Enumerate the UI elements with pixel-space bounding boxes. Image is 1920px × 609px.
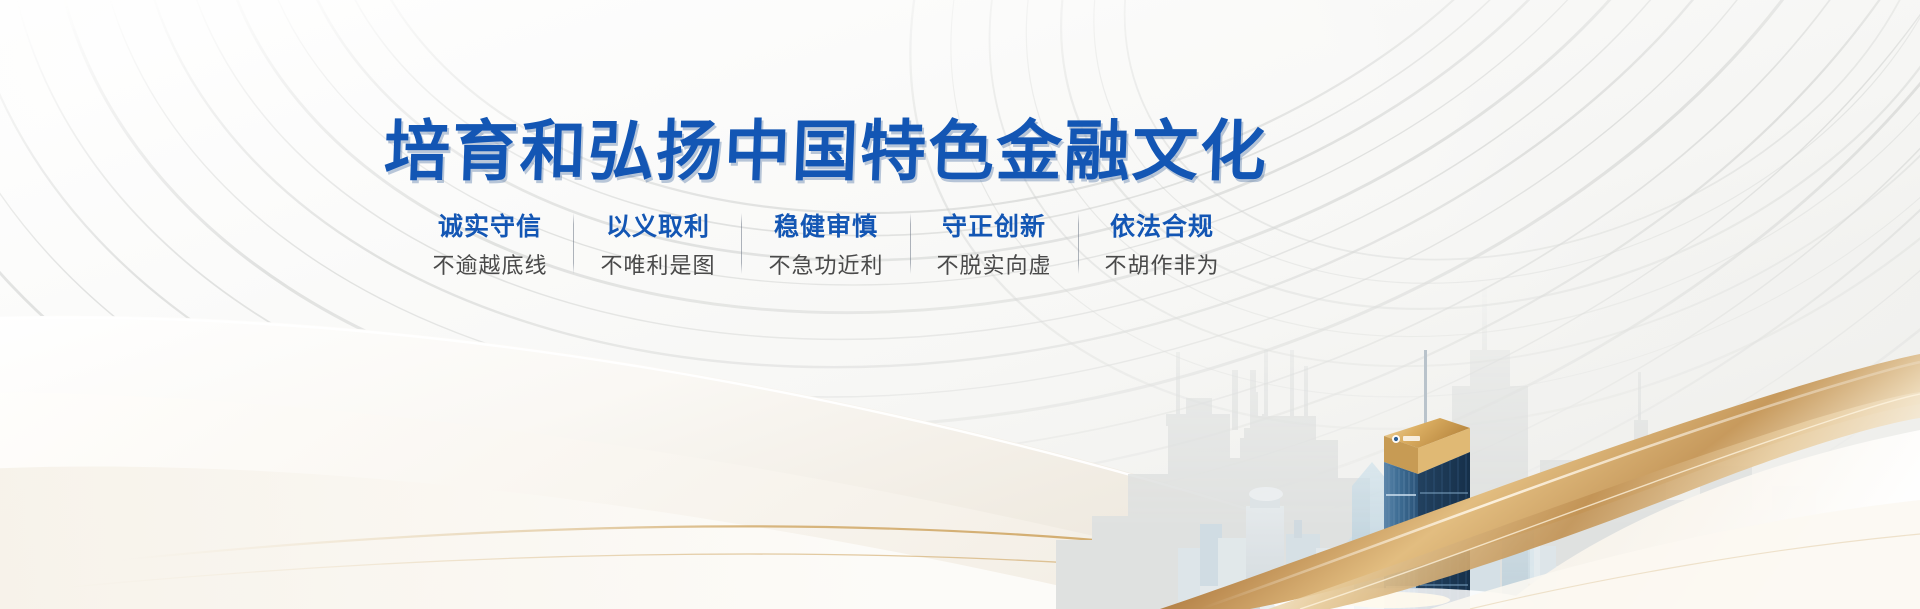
pillar-item: 守正创新 不脱实向虚	[911, 211, 1078, 280]
pillar-subtitle: 不脱实向虚	[937, 253, 1052, 281]
pillar-subtitle: 不急功近利	[768, 253, 883, 281]
pillar-item: 依法合规 不胡作非为	[1079, 211, 1246, 280]
pillars-row: 诚实守信 不逾越底线 以义取利 不唯利是图 稳健审慎 不急功近利 守正创新 不脱…	[406, 211, 1245, 280]
pillar-subtitle: 不逾越底线	[432, 253, 547, 281]
pillar-title: 依法合规	[1110, 211, 1214, 242]
banner-content: 培育和弘扬中国特色金融文化 诚实守信 不逾越底线 以义取利 不唯利是图 稳健审慎…	[0, 0, 1920, 609]
banner-root: 培育和弘扬中国特色金融文化 诚实守信 不逾越底线 以义取利 不唯利是图 稳健审慎…	[0, 0, 1920, 609]
pillar-item: 诚实守信 不逾越底线	[406, 211, 573, 280]
pillar-subtitle: 不胡作非为	[1105, 253, 1220, 281]
pillar-item: 以义取利 不唯利是图	[574, 211, 741, 280]
pillar-item: 稳健审慎 不急功近利	[742, 211, 909, 280]
page-title: 培育和弘扬中国特色金融文化	[383, 118, 1269, 185]
pillar-title: 守正创新	[942, 211, 1046, 242]
pillar-title: 诚实守信	[438, 211, 542, 242]
pillar-title: 以义取利	[606, 211, 710, 242]
pillar-subtitle: 不唯利是图	[600, 253, 715, 281]
pillar-title: 稳健审慎	[774, 211, 878, 242]
